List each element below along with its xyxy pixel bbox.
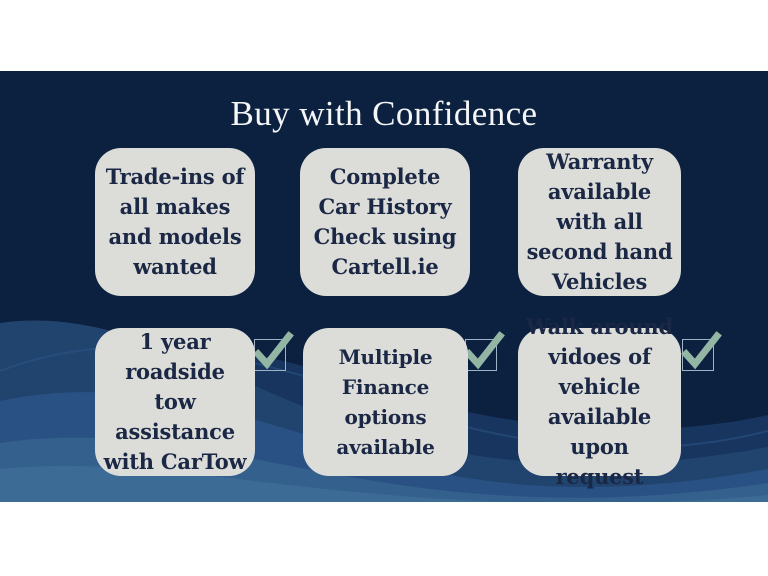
slide-canvas: Buy with Confidence Trade-ins of all mak… xyxy=(0,71,768,502)
feature-card-text: Walk around vidoes of vehicle available … xyxy=(526,312,673,492)
feature-card-warranty[interactable]: Warranty available with all second hand … xyxy=(518,148,681,296)
feature-card-roadside-tow[interactable]: 1 year roadside tow assistance with CarT… xyxy=(95,328,255,476)
feature-card-trade-ins[interactable]: Trade-ins of all makes and models wanted xyxy=(95,148,255,296)
feature-card-text: Trade-ins of all makes and models wanted xyxy=(103,162,247,282)
check-icon xyxy=(463,333,503,373)
feature-card-text: Multiple Finance options available xyxy=(311,342,460,462)
check-icon xyxy=(252,333,292,373)
check-icon xyxy=(680,333,720,373)
feature-card-history-check[interactable]: Complete Car History Check using Cartell… xyxy=(300,148,470,296)
feature-card-text: Warranty available with all second hand … xyxy=(526,147,673,297)
feature-card-finance[interactable]: Multiple Finance options available xyxy=(303,328,468,476)
feature-card-text: Complete Car History Check using Cartell… xyxy=(308,162,462,282)
feature-card-walk-around-videos[interactable]: Walk around vidoes of vehicle available … xyxy=(518,328,681,476)
page-title: Buy with Confidence xyxy=(0,92,768,136)
feature-card-text: 1 year roadside tow assistance with CarT… xyxy=(103,327,247,477)
